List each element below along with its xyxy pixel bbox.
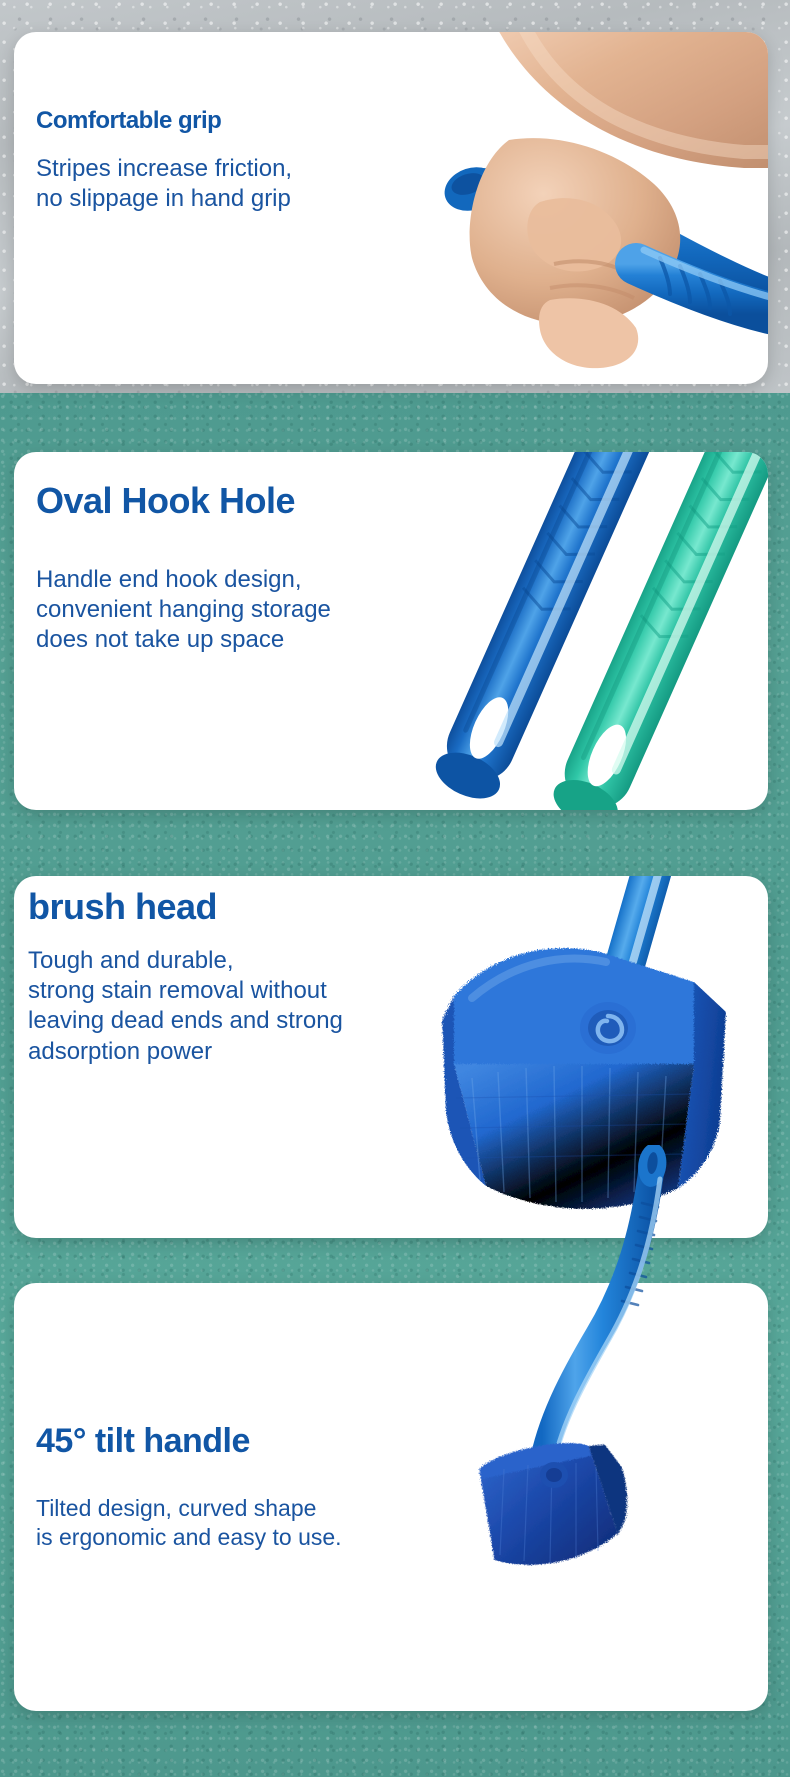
hand-grip-photo xyxy=(344,32,768,384)
panel-3-body: Tough and durable, strong stain removal … xyxy=(28,946,343,1067)
panel-1-body: Stripes increase friction, no slippage i… xyxy=(36,154,292,214)
panel-4-headline: 45° tilt handle xyxy=(36,1423,342,1460)
panel-4-text-block: 45° tilt handle Tilted design, curved sh… xyxy=(36,1423,342,1552)
handle-hook-holes-photo xyxy=(414,452,768,810)
brush-head-photo xyxy=(394,876,768,1238)
panel-3-text-block: Double sided thick brush head Tough and … xyxy=(28,876,343,1067)
feature-card-double-sided-brush-head[interactable]: Double sided thick brush head Tough and … xyxy=(14,876,768,1238)
feature-card-comfortable-grip[interactable]: Comfortable grip Stripes increase fricti… xyxy=(14,32,768,384)
feature-card-oval-hook-hole[interactable]: Oval Hook Hole Handle end hook design, c… xyxy=(14,452,768,810)
panel-2-text-block: Oval Hook Hole Handle end hook design, c… xyxy=(36,482,331,656)
panel-1-headline: Comfortable grip xyxy=(36,108,292,134)
panel-1-text-block: Comfortable grip Stripes increase fricti… xyxy=(36,108,292,214)
panel-3-headline: Double sided thick brush head xyxy=(28,876,343,934)
panel-2-headline: Oval Hook Hole xyxy=(36,482,331,521)
panel-2-body: Handle end hook design, convenient hangi… xyxy=(36,565,331,656)
panel-4-body: Tilted design, curved shape is ergonomic… xyxy=(36,1494,342,1552)
feature-card-tilt-handle[interactable]: 45° tilt handle Tilted design, curved sh… xyxy=(14,1283,768,1711)
product-feature-infographic: Comfortable grip Stripes increase fricti… xyxy=(0,0,790,1777)
